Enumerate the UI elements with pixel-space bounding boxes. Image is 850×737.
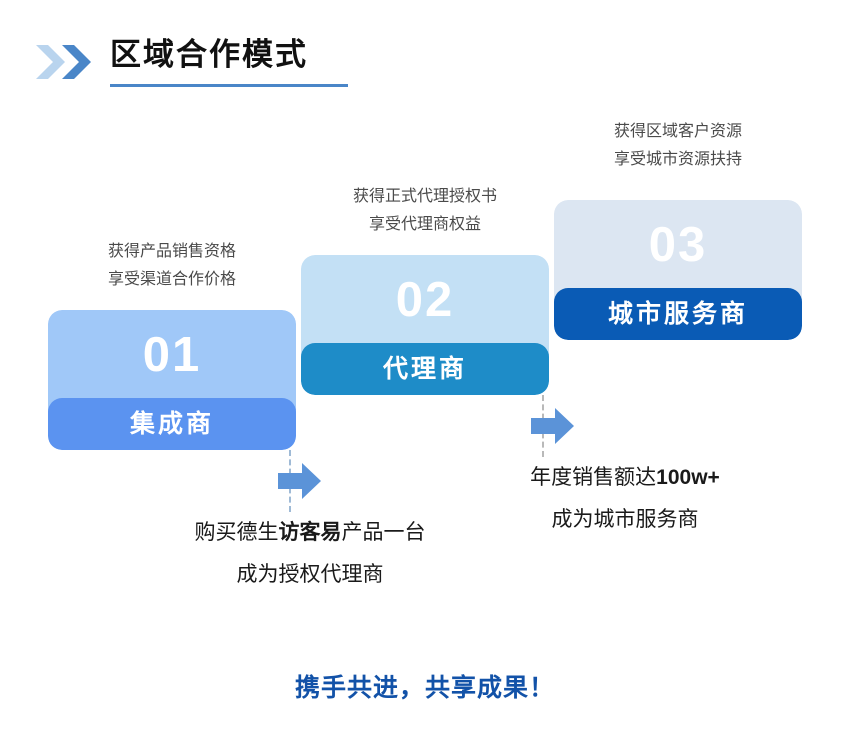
step-03-caption-line-1: 获得区域客户资源 (554, 118, 802, 146)
step-03-role-label: 城市服务商 (608, 302, 748, 327)
step-02-caption-line-1: 获得正式代理授权书 (301, 183, 549, 211)
step-02-card[interactable]: 02 代理商 (301, 255, 549, 395)
step-03-caption: 获得区域客户资源 享受城市资源扶持 (554, 118, 802, 174)
step-02-role-band: 代理商 (301, 343, 549, 395)
step-01-number: 01 (48, 318, 296, 392)
arrow-right-icon (278, 462, 322, 500)
connector-02-note-line-1: 年度销售额达100w+ (455, 457, 795, 499)
step-02-role-label: 代理商 (383, 357, 467, 382)
step-03-number: 03 (554, 208, 802, 282)
connector-01-note-line-1: 购买德生访客易产品一台 (130, 512, 490, 554)
step-02-number: 02 (301, 263, 549, 337)
step-01-caption-line-2: 享受渠道合作价格 (48, 266, 296, 294)
step-01-caption-line-1: 获得产品销售资格 (48, 238, 296, 266)
connector-01-note-line-2: 成为授权代理商 (130, 554, 490, 596)
step-01-role-band: 集成商 (48, 398, 296, 450)
connector-01-note: 购买德生访客易产品一台 成为授权代理商 (130, 512, 490, 596)
connector-02-note-line-2: 成为城市服务商 (455, 499, 795, 541)
step-02-caption-line-2: 享受代理商权益 (301, 211, 549, 239)
step-02-caption: 获得正式代理授权书 享受代理商权益 (301, 183, 549, 239)
footer-slogan: 携手共进，共享成果！ (0, 668, 850, 704)
step-01-role-label: 集成商 (130, 412, 214, 437)
connector-02-note: 年度销售额达100w+ 成为城市服务商 (455, 457, 795, 541)
step-03-role-band: 城市服务商 (554, 288, 802, 340)
partnership-tier-diagram: 获得产品销售资格 享受渠道合作价格 01 集成商 获得正式代理授权书 享受代理商… (0, 0, 850, 737)
step-03-caption-line-2: 享受城市资源扶持 (554, 146, 802, 174)
step-01-caption: 获得产品销售资格 享受渠道合作价格 (48, 238, 296, 294)
arrow-right-icon (531, 407, 575, 445)
step-03-card[interactable]: 03 城市服务商 (554, 200, 802, 340)
step-01-card[interactable]: 01 集成商 (48, 310, 296, 450)
